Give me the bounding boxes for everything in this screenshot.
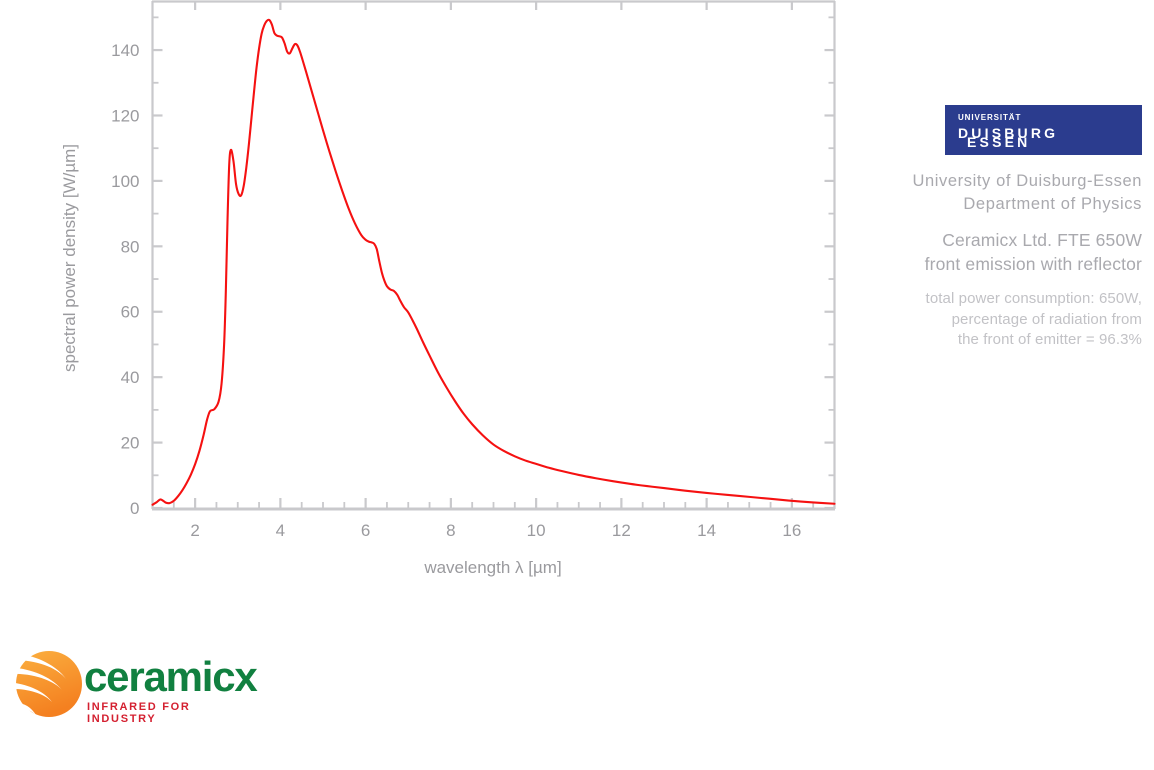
x-tick-label: 12 <box>612 521 631 540</box>
y-tick-labels: 020406080100120140 <box>111 41 139 518</box>
institution-line-2: Department of Physics <box>880 193 1142 216</box>
y-tick-label: 40 <box>121 368 140 387</box>
university-duisburg-essen-logo: UNIVERSITÄT DUISBURG ESSEN <box>945 105 1142 155</box>
y-tick-label: 0 <box>130 499 139 518</box>
y-tick-label: 140 <box>111 41 139 60</box>
y-tick-label: 20 <box>121 434 140 453</box>
ceramicx-wordmark: ceramicx <box>84 653 257 701</box>
y-tick-label: 120 <box>111 106 139 125</box>
device-line-1: Ceramicx Ltd. FTE 650W <box>880 228 1142 252</box>
x-tick-labels: 246810121416 <box>190 521 801 540</box>
ceramicx-tagline: INFRARED FOR INDUSTRY <box>87 701 246 725</box>
details-line-2: percentage of radiation from <box>880 310 1142 331</box>
ceramicx-flame-icon <box>16 645 82 723</box>
x-tick-label: 8 <box>446 521 455 540</box>
x-tick-label: 6 <box>361 521 370 540</box>
institution-block: University of Duisburg-Essen Department … <box>880 170 1142 216</box>
x-tick-label: 4 <box>276 521 285 540</box>
y-tick-label: 100 <box>111 172 139 191</box>
ceramicx-logo: ceramicx INFRARED FOR INDUSTRY <box>16 645 246 723</box>
y-tick-label: 60 <box>121 303 140 322</box>
chart-region: 246810121416 020406080100120140 waveleng… <box>0 0 880 600</box>
data-series-line <box>153 20 835 505</box>
info-sidebar: UNIVERSITÄT DUISBURG ESSEN University of… <box>880 0 1154 600</box>
x-tick-label: 10 <box>527 521 546 540</box>
logo-line-universitaet: UNIVERSITÄT <box>958 113 1021 122</box>
y-axis-title: spectral power density [W/µm] <box>60 144 79 372</box>
y-tick-label: 80 <box>121 237 140 256</box>
spectral-power-density-chart: 246810121416 020406080100120140 waveleng… <box>0 0 880 600</box>
device-block: Ceramicx Ltd. FTE 650W front emission wi… <box>880 228 1142 276</box>
x-tick-label: 2 <box>190 521 199 540</box>
logo-line-essen: ESSEN <box>967 134 1030 150</box>
x-tick-label: 16 <box>782 521 801 540</box>
details-line-3: the front of emitter = 96.3% <box>880 330 1142 351</box>
details-line-1: total power consumption: 650W, <box>880 289 1142 310</box>
institution-line-1: University of Duisburg-Essen <box>880 170 1142 193</box>
x-axis-title: wavelength λ [µm] <box>423 558 561 577</box>
device-line-2: front emission with reflector <box>880 252 1142 276</box>
x-tick-label: 14 <box>697 521 716 540</box>
plot-frame <box>152 1 835 509</box>
measurement-details-block: total power consumption: 650W, percentag… <box>880 289 1142 351</box>
